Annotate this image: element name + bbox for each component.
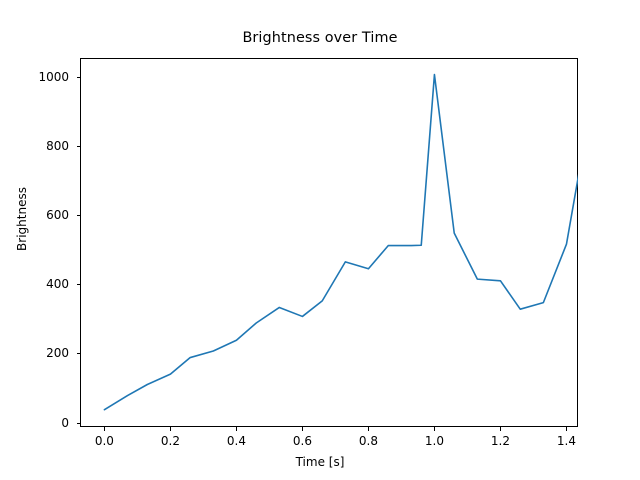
- x-tick-label: 0.0: [74, 434, 134, 448]
- chart-title: Brightness over Time: [0, 30, 640, 46]
- x-tick-mark: [170, 427, 171, 431]
- x-tick-label: 1.4: [536, 434, 596, 448]
- x-tick-mark: [368, 427, 369, 431]
- y-tick-label: 800: [9, 139, 69, 153]
- y-tick-mark: [77, 77, 81, 78]
- x-tick-mark: [236, 427, 237, 431]
- x-tick-label: 0.2: [140, 434, 200, 448]
- y-tick-label: 200: [9, 346, 69, 360]
- brightness-line: [104, 75, 578, 410]
- x-tick-label: 1.2: [470, 434, 530, 448]
- matplotlib-figure: Brightness over Time Brightness 02004006…: [0, 0, 640, 480]
- y-tick-label: 600: [9, 208, 69, 222]
- x-tick-mark: [566, 427, 567, 431]
- x-tick-label: 0.8: [338, 434, 398, 448]
- y-tick-mark: [77, 423, 81, 424]
- x-axis-label: Time [s]: [0, 455, 640, 469]
- y-tick-label: 400: [9, 277, 69, 291]
- x-tick-label: 0.6: [272, 434, 332, 448]
- plot-area: [80, 58, 578, 427]
- y-tick-label: 1000: [9, 70, 69, 84]
- y-tick-mark: [77, 215, 81, 216]
- x-tick-mark: [104, 427, 105, 431]
- y-tick-mark: [77, 146, 81, 147]
- y-tick-mark: [77, 284, 81, 285]
- y-tick-label: 0: [9, 416, 69, 430]
- x-tick-label: 1.0: [404, 434, 464, 448]
- x-tick-label: 0.4: [206, 434, 266, 448]
- x-tick-mark: [434, 427, 435, 431]
- x-tick-mark: [302, 427, 303, 431]
- y-tick-mark: [77, 353, 81, 354]
- x-tick-mark: [500, 427, 501, 431]
